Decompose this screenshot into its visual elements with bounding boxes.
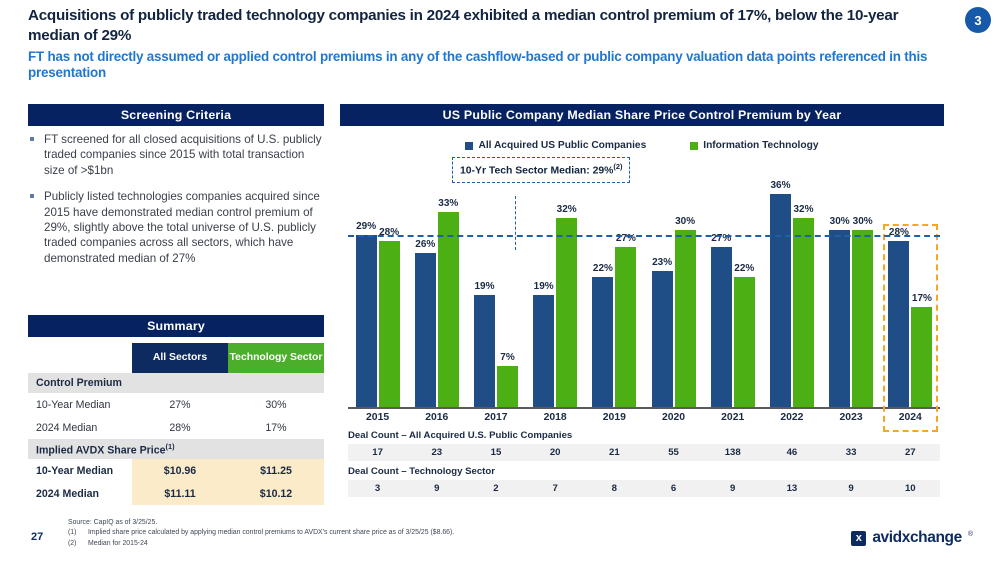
deal-count-cell: 9 <box>822 483 881 494</box>
deal-count-cell: 3 <box>348 483 407 494</box>
deal-count-cell: 7 <box>526 483 585 494</box>
table-row: 2024 Median 28% 17% <box>28 416 324 439</box>
chart-x-axis: 2015201620172018201920202021202220232024 <box>348 412 940 423</box>
footnote-marker: (2) <box>68 539 88 549</box>
footnote-marker: (2) <box>613 162 622 171</box>
x-axis-tick-2015: 2015 <box>348 412 407 423</box>
bar-value-label: 32% <box>793 204 813 215</box>
chart-legend: All Acquired US Public Companies Informa… <box>340 140 944 151</box>
avidxchange-logo: x avidxchange ® <box>851 529 973 547</box>
legend-swatch-icon <box>690 142 698 150</box>
chart-baseline-axis <box>348 407 940 409</box>
x-axis-tick-2018: 2018 <box>526 412 585 423</box>
footnotes-block: Source: CapIQ as of 3/25/25. (1) Implied… <box>68 518 768 549</box>
row-label: 2024 Median <box>28 482 132 505</box>
deal-count-row-tech: 392786913910 <box>348 480 940 497</box>
legend-item-information-technology: Information Technology <box>690 140 818 151</box>
logo-registered-icon: ® <box>968 531 973 538</box>
list-item: FT screened for all closed acquisitions … <box>28 132 328 178</box>
deal-count-cell: 55 <box>644 447 703 458</box>
deal-count-title-all: Deal Count – All Acquired U.S. Public Co… <box>348 430 572 441</box>
section-title-text: Implied AVDX Share Price <box>36 444 166 456</box>
table-row: 10-Year Median $10.96 $11.25 <box>28 459 324 482</box>
deal-count-cell: 23 <box>407 447 466 458</box>
page-subtitle: FT has not directly assumed or applied c… <box>28 49 938 83</box>
deal-count-cell: 46 <box>762 447 821 458</box>
bar-value-label: 33% <box>438 198 458 209</box>
x-axis-tick-2017: 2017 <box>466 412 525 423</box>
bar-2019-tech: 27% <box>615 247 636 408</box>
bar-group: 30%30% <box>829 230 873 409</box>
callout-leader-line <box>515 196 516 250</box>
slide-canvas: Acquisitions of publicly traded technolo… <box>0 0 999 562</box>
deal-count-cell: 33 <box>822 447 881 458</box>
row-label: 10-Year Median <box>28 459 132 482</box>
bar-group: 19%32% <box>533 218 577 408</box>
bar-2020-all: 23% <box>652 271 673 408</box>
bar-2021-tech: 22% <box>734 277 755 408</box>
bar-2018-all: 19% <box>533 295 554 408</box>
bar-value-label: 29% <box>356 221 376 232</box>
bar-2020-tech: 30% <box>675 230 696 409</box>
row-label: 2024 Median <box>28 416 132 439</box>
table-row: 10-Year Median 27% 30% <box>28 393 324 416</box>
deal-count-cell: 6 <box>644 483 703 494</box>
footnote-2: (2) Median for 2015-24 <box>68 539 768 549</box>
legend-swatch-icon <box>465 142 473 150</box>
bar-group: 22%27% <box>592 247 636 408</box>
cell-technology: 17% <box>228 416 324 439</box>
section-title-control-premium: Control Premium <box>28 373 324 393</box>
bar-2019-all: 22% <box>592 277 613 408</box>
logo-wordmark: avidxchange <box>872 529 962 547</box>
list-item: Publicly listed technologies companies a… <box>28 189 328 266</box>
deal-count-cell: 10 <box>881 483 940 494</box>
bar-group: 19%7% <box>474 295 518 408</box>
footnote-1: (1) Implied share price calculated by ap… <box>68 528 768 538</box>
bar-2016-tech: 33% <box>438 212 459 408</box>
bar-group: 29%28% <box>356 235 400 408</box>
cell-technology: 30% <box>228 393 324 416</box>
median-callout-label: 10-Yr Tech Sector Median: 29% <box>460 165 613 176</box>
slide-header: Acquisitions of publicly traded technolo… <box>28 6 938 82</box>
deal-count-row-all: 172315202155138463327 <box>348 444 940 461</box>
bar-value-label: 32% <box>557 204 577 215</box>
deal-count-cell: 9 <box>407 483 466 494</box>
deal-count-cell: 8 <box>585 483 644 494</box>
section-number-badge: 3 <box>965 7 991 33</box>
column-header-technology-sector: Technology Sector <box>228 343 324 373</box>
bar-value-label: 30% <box>830 216 850 227</box>
deal-count-cell: 13 <box>762 483 821 494</box>
summary-table: All Sectors Technology Sector Control Pr… <box>28 343 324 505</box>
bar-group: 27%22% <box>711 247 755 408</box>
x-axis-tick-2023: 2023 <box>822 412 881 423</box>
legend-item-all-acquired: All Acquired US Public Companies <box>465 140 646 151</box>
bar-2015-all: 29% <box>356 235 377 408</box>
bar-value-label: 30% <box>675 216 695 227</box>
bar-value-label: 26% <box>415 239 435 250</box>
bar-2017-tech: 7% <box>497 366 518 408</box>
bar-2023-tech: 30% <box>852 230 873 409</box>
bar-2015-tech: 28% <box>379 241 400 408</box>
deal-count-cell: 9 <box>703 483 762 494</box>
median-reference-line <box>348 235 940 237</box>
deal-count-cell: 138 <box>703 447 762 458</box>
logo-x-icon: x <box>851 531 866 546</box>
source-line: Source: CapIQ as of 3/25/25. <box>68 518 768 528</box>
bar-value-label: 36% <box>770 180 790 191</box>
section-title-implied-share-price: Implied AVDX Share Price(1) <box>28 439 324 459</box>
bar-2022-all: 36% <box>770 194 791 408</box>
x-axis-tick-2021: 2021 <box>703 412 762 423</box>
chart-title: US Public Company Median Share Price Con… <box>340 104 944 126</box>
screening-bullet-list: FT screened for all closed acquisitions … <box>28 132 328 266</box>
summary-header: Summary <box>28 315 324 337</box>
x-axis-tick-2020: 2020 <box>644 412 703 423</box>
footnote-marker: (1) <box>68 528 88 538</box>
highlight-box-2024 <box>883 224 938 432</box>
row-label: 10-Year Median <box>28 393 132 416</box>
bar-value-label: 22% <box>593 263 613 274</box>
table-row: 2024 Median $11.11 $10.12 <box>28 482 324 505</box>
footnote-text: Median for 2015-24 <box>88 539 148 549</box>
x-axis-tick-2022: 2022 <box>762 412 821 423</box>
bar-2017-all: 19% <box>474 295 495 408</box>
legend-label: All Acquired US Public Companies <box>478 140 646 151</box>
bar-group: 26%33% <box>415 212 459 408</box>
cell-technology: $10.12 <box>228 482 324 505</box>
bar-2021-all: 27% <box>711 247 732 408</box>
bar-2022-tech: 32% <box>793 218 814 408</box>
median-callout-box: 10-Yr Tech Sector Median: 29%(2) <box>452 157 630 183</box>
bar-value-label: 19% <box>534 281 554 292</box>
footnote-text: Implied share price calculated by applyi… <box>88 528 454 538</box>
footnote-marker: (1) <box>166 442 175 451</box>
bar-value-label: 7% <box>500 352 514 363</box>
table-header-row: All Sectors Technology Sector <box>28 343 324 373</box>
bar-2023-all: 30% <box>829 230 850 409</box>
deal-count-cell: 17 <box>348 447 407 458</box>
x-axis-tick-2019: 2019 <box>585 412 644 423</box>
screening-criteria-body: FT screened for all closed acquisitions … <box>28 132 328 277</box>
bar-value-label: 19% <box>474 281 494 292</box>
screening-criteria-header: Screening Criteria <box>28 104 324 126</box>
cell-all-sectors: $10.96 <box>132 459 228 482</box>
cell-all-sectors: $11.11 <box>132 482 228 505</box>
deal-count-cell: 21 <box>585 447 644 458</box>
column-header-all-sectors: All Sectors <box>132 343 228 373</box>
bar-value-label: 22% <box>734 263 754 274</box>
table-section-row: Implied AVDX Share Price(1) <box>28 439 324 459</box>
chart-plot-area: 29%28%26%33%19%7%19%32%22%27%23%30%27%22… <box>348 170 940 408</box>
table-section-row: Control Premium <box>28 373 324 393</box>
legend-label: Information Technology <box>703 140 818 151</box>
deal-count-title-tech: Deal Count – Technology Sector <box>348 466 495 477</box>
summary-col-blank <box>28 343 132 373</box>
bar-group: 36%32% <box>770 194 814 408</box>
bar-2016-all: 26% <box>415 253 436 408</box>
deal-count-cell: 2 <box>466 483 525 494</box>
cell-all-sectors: 27% <box>132 393 228 416</box>
deal-count-cell: 15 <box>466 447 525 458</box>
bar-value-label: 23% <box>652 257 672 268</box>
bar-value-label: 30% <box>853 216 873 227</box>
cell-technology: $11.25 <box>228 459 324 482</box>
cell-all-sectors: 28% <box>132 416 228 439</box>
bar-group: 23%30% <box>652 230 696 409</box>
x-axis-tick-2016: 2016 <box>407 412 466 423</box>
page-title: Acquisitions of publicly traded technolo… <box>28 6 938 46</box>
page-number: 27 <box>31 531 43 543</box>
deal-count-cell: 20 <box>526 447 585 458</box>
bar-2018-tech: 32% <box>556 218 577 408</box>
deal-count-cell: 27 <box>881 447 940 458</box>
